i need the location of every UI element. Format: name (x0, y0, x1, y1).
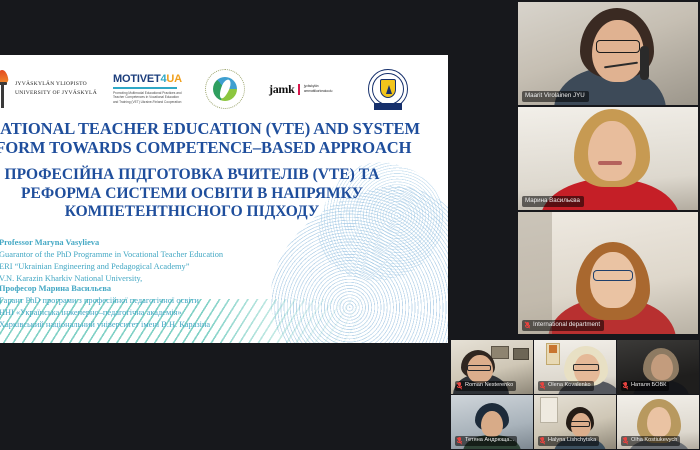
jamk-subtitle: jyväskylän ammattikorkeakoulu (304, 84, 346, 93)
jyu-logo-text: JYVÄSKYLÄN YLIOPISTO UNIVERSITY OF JYVÄS… (15, 80, 97, 97)
slide-title-ukrainian: ПРОФЕСІЙНА ПІДГОТОВКА ВЧИТЕЛІВ (VTE) ТА … (0, 166, 442, 222)
video-feed (518, 2, 698, 105)
participant-name-badge: Olha Kostiukevych (621, 436, 680, 446)
jamk-divider (298, 84, 299, 95)
slide-title-english: VOCATIONAL TEACHER EDUCATION (VTE) AND S… (0, 119, 442, 158)
participant-name-badge: Марина Васильєва (522, 196, 584, 207)
motivet4ua-logo: MOTIVET4UA Promoting Multimodal Educatio… (113, 73, 183, 105)
slide-title-block: VOCATIONAL TEACHER EDUCATION (VTE) AND S… (0, 119, 448, 222)
jamk-wordmark: jamk (269, 82, 294, 97)
motivet4ua-subtitle: Promoting Multimodal Educational Practic… (113, 91, 183, 105)
participant-tile-roman-nesterenko[interactable]: Roman Nesterenko (451, 340, 533, 394)
participant-name: Марина Васильєва (525, 197, 580, 205)
participant-tile-olha-kostiukevych[interactable]: Olha Kostiukevych (617, 395, 699, 449)
speaker-credits-ukrainian: Професор Марина Васильєва Гарант PhD про… (0, 283, 210, 331)
participant-name-badge: Наталя БОВК (621, 381, 669, 391)
uipa-emblem-logo (205, 69, 245, 109)
participant-name-badge: Maarit Virolainen JYU (522, 91, 589, 102)
karazin-crest-logo (366, 69, 410, 109)
crest-shield-icon (380, 79, 396, 98)
video-conference-window: Ukda JYVÄSKYLÄN YLIOPISTO UNIVERSITY OF … (0, 0, 700, 450)
participant-tile-olena-kovalenko[interactable]: Olena Kovalenko (534, 340, 616, 394)
emblem-mark-icon (213, 77, 237, 101)
crest-ribbon (372, 103, 404, 110)
participant-name: International department (533, 321, 600, 329)
jyu-logo: JYVÄSKYLÄN YLIOPISTO UNIVERSITY OF JYVÄS… (0, 70, 97, 108)
video-feed (518, 107, 698, 210)
motivet4ua-rule (113, 87, 177, 88)
participant-name: Olha Kostiukevych (631, 437, 677, 445)
video-feed (518, 212, 698, 334)
mic-muted-icon (623, 437, 628, 444)
motivet4ua-wordmark: MOTIVET4UA (113, 73, 182, 85)
participant-name-badge: International department (522, 320, 604, 331)
participant-name: Maarit Virolainen JYU (525, 92, 585, 100)
presentation-slide[interactable]: Ukda JYVÄSKYLÄN YLIOPISTO UNIVERSITY OF … (0, 55, 448, 343)
jamk-logo: jamk jyväskylän ammattikorkeakoulu (269, 82, 346, 97)
participant-name-badge: Olena Kovalenko (538, 381, 594, 391)
participant-name: Halyna Lishchytska (548, 437, 596, 445)
participant-name: Наталя БОВК (631, 382, 666, 390)
speaker-credits-english: Professor Maryna Vasylieva Guarantor of … (0, 237, 223, 285)
participant-name-badge: Halyna Lishchytska (538, 436, 599, 446)
participant-tile-maarit[interactable]: Maarit Virolainen JYU (518, 2, 698, 105)
mic-muted-icon (457, 382, 462, 389)
participant-tile-international-department[interactable]: International department (518, 212, 698, 334)
participant-tile-vasylieva[interactable]: Марина Васильєва (518, 107, 698, 210)
participant-tile-halyna-lishchytska[interactable]: Halyna Lishchytska (534, 395, 616, 449)
participant-name-badge: Тетяна Андрюща... (455, 436, 517, 446)
participant-name-badge: Roman Nesterenko (455, 381, 516, 391)
participant-name: Olena Kovalenko (548, 382, 591, 390)
torch-icon (0, 70, 10, 108)
mic-muted-icon (540, 437, 545, 444)
participant-name: Roman Nesterenko (465, 382, 513, 390)
mic-muted-icon (540, 382, 545, 389)
participant-name: Тетяна Андрюща... (465, 437, 514, 445)
participant-tile-natalia-bovk[interactable]: Наталя БОВК (617, 340, 699, 394)
slide-logo-bar: JYVÄSKYLÄN YLIOPISTO UNIVERSITY OF JYVÄS… (0, 63, 448, 115)
participant-gallery[interactable]: Maarit Virolainen JYU Марина Васильєва (448, 0, 700, 450)
mic-muted-icon (623, 382, 628, 389)
mic-muted-icon (525, 322, 530, 329)
mic-muted-icon (457, 437, 462, 444)
shared-screen-region[interactable]: Ukda JYVÄSKYLÄN YLIOPISTO UNIVERSITY OF … (0, 0, 448, 450)
participant-tile-tetiana-andriushchenko[interactable]: Тетяна Андрюща... (451, 395, 533, 449)
